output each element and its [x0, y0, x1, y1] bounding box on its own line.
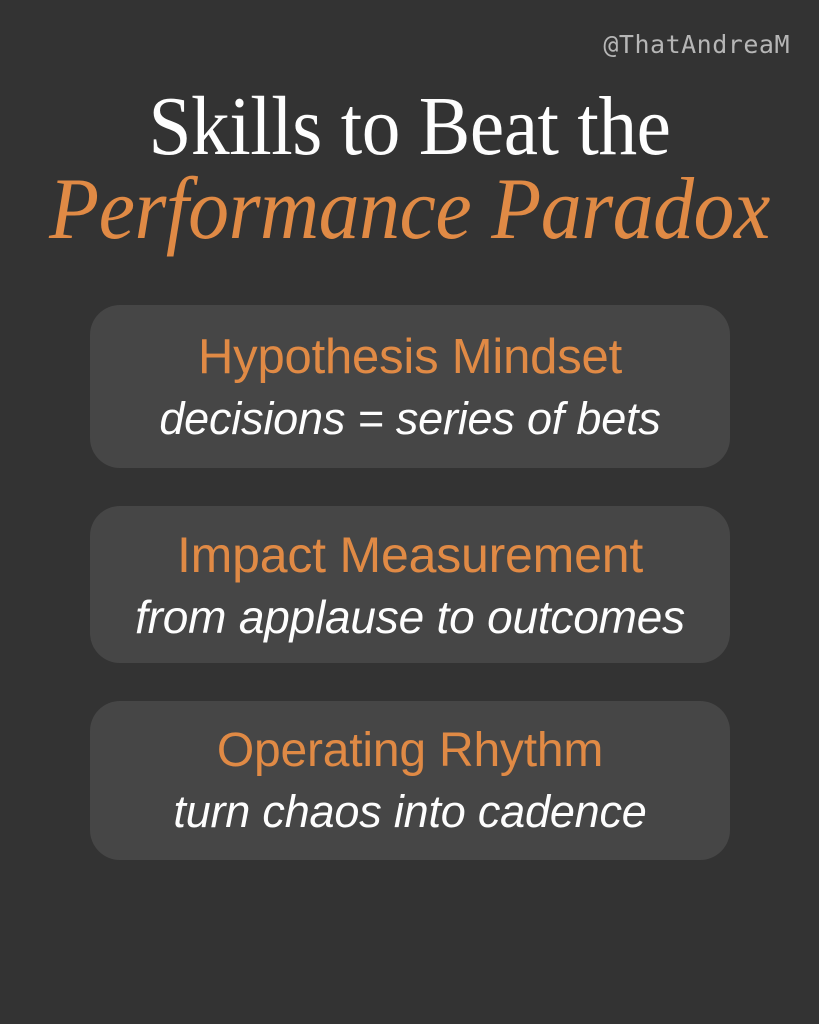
skill-card-list: Hypothesis Mindset decisions = series of… — [90, 305, 730, 860]
title-line-primary: Skills to Beat the — [33, 86, 786, 168]
skill-card: Hypothesis Mindset decisions = series of… — [90, 305, 730, 468]
skill-card-subtitle: from applause to outcomes — [135, 594, 685, 640]
poster-canvas: @ThatAndreaM Skills to Beat the Performa… — [0, 0, 819, 1024]
skill-card-subtitle: turn chaos into cadence — [173, 789, 646, 834]
title-line-accent: Performance Paradox — [29, 164, 791, 256]
skill-card-subtitle: decisions = series of bets — [159, 396, 660, 441]
skill-card-title: Operating Rhythm — [217, 727, 603, 775]
page-title: Skills to Beat the Performance Paradox — [0, 86, 819, 256]
skill-card: Impact Measurement from applause to outc… — [90, 506, 730, 663]
author-handle: @ThatAndreaM — [603, 32, 790, 57]
skill-card-title: Hypothesis Mindset — [198, 333, 622, 382]
skill-card: Operating Rhythm turn chaos into cadence — [90, 701, 730, 860]
skill-card-title: Impact Measurement — [177, 530, 643, 580]
